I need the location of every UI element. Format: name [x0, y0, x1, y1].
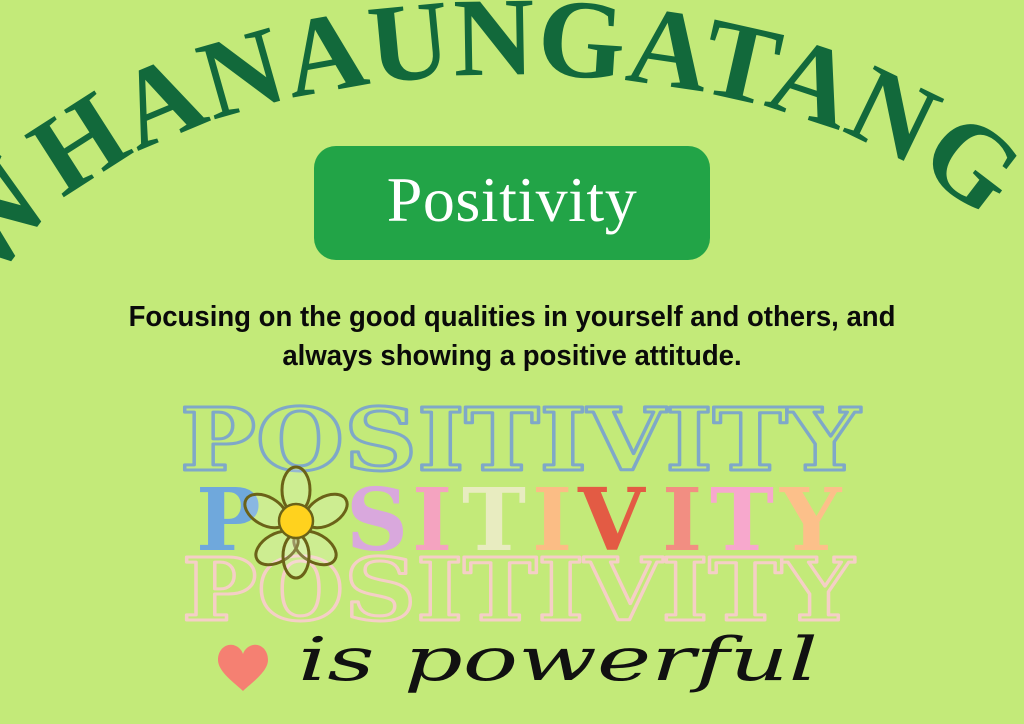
wordart-row-middle: P S I T I V I T Y [196, 467, 843, 578]
wordart-letter-s: S [346, 470, 408, 571]
wordart-letter-i-1: I [412, 470, 452, 571]
positivity-wordart: POSITIVITY POSITIVITY P S I T I V I T Y [150, 392, 890, 702]
wordart-letter-t-1: T [462, 470, 526, 571]
wordart-letter-p-1: P [196, 470, 261, 571]
description-text: Focusing on the good qualities in yourse… [85, 298, 940, 377]
badge-label: Positivity [387, 168, 637, 238]
description-line-1: Focusing on the good qualities in yourse… [85, 298, 940, 337]
wordart-letter-v: V [577, 470, 646, 571]
wordart-letter-i-2: I [532, 470, 572, 571]
description-line-2: always showing a positive attitude. [85, 337, 940, 376]
wordart-letter-i-3: I [662, 470, 702, 571]
wordart-letter-t-2: T [710, 470, 774, 571]
poster-canvas: WHANAUNGATANGA Positivity Focusing on th… [0, 0, 1024, 724]
daisy-center [279, 504, 313, 538]
value-badge: Positivity [314, 146, 710, 260]
wordart-tagline: is powerful [218, 625, 818, 695]
heart-icon [218, 645, 268, 691]
tagline-text: is powerful [298, 625, 818, 695]
wordart-letter-y: Y [779, 470, 843, 571]
